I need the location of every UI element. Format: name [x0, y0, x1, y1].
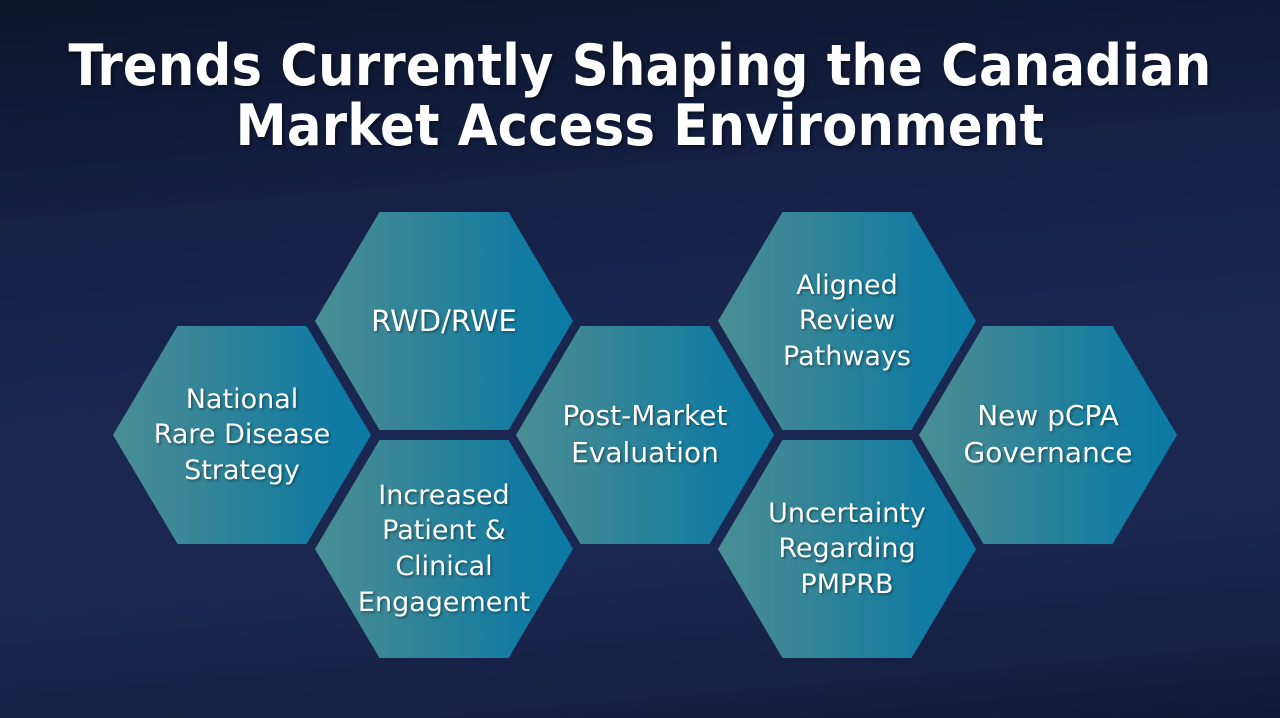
hexagon-national-rare-disease-strategy[interactable]: National Rare Disease Strategy — [113, 326, 371, 544]
hexagon-rwd-rwe[interactable]: RWD/RWE — [315, 212, 573, 430]
hexagon-label: Uncertainty Regarding PMPRB — [768, 496, 926, 603]
hexagon-aligned-review-pathways[interactable]: Aligned Review Pathways — [718, 212, 976, 430]
hexagon-increased-patient-clinical-engagement[interactable]: Increased Patient & Clinical Engagement — [315, 440, 573, 658]
hexagon-uncertainty-regarding-pmprb[interactable]: Uncertainty Regarding PMPRB — [718, 440, 976, 658]
hexagon-label: RWD/RWE — [371, 302, 517, 340]
hexagon-label: New pCPA Governance — [964, 398, 1133, 472]
hexagon-cluster-diagram: National Rare Disease Strategy RWD/RWE I… — [0, 0, 1280, 718]
hexagon-post-market-evaluation[interactable]: Post-Market Evaluation — [516, 326, 774, 544]
hexagon-label: National Rare Disease Strategy — [154, 382, 331, 489]
slide-canvas: Trends Currently Shaping the Canadian Ma… — [0, 0, 1280, 718]
hexagon-label: Aligned Review Pathways — [783, 268, 911, 375]
hexagon-label: Increased Patient & Clinical Engagement — [358, 478, 530, 621]
hexagon-label: Post-Market Evaluation — [563, 398, 728, 472]
hexagon-new-pcpa-governance[interactable]: New pCPA Governance — [919, 326, 1177, 544]
